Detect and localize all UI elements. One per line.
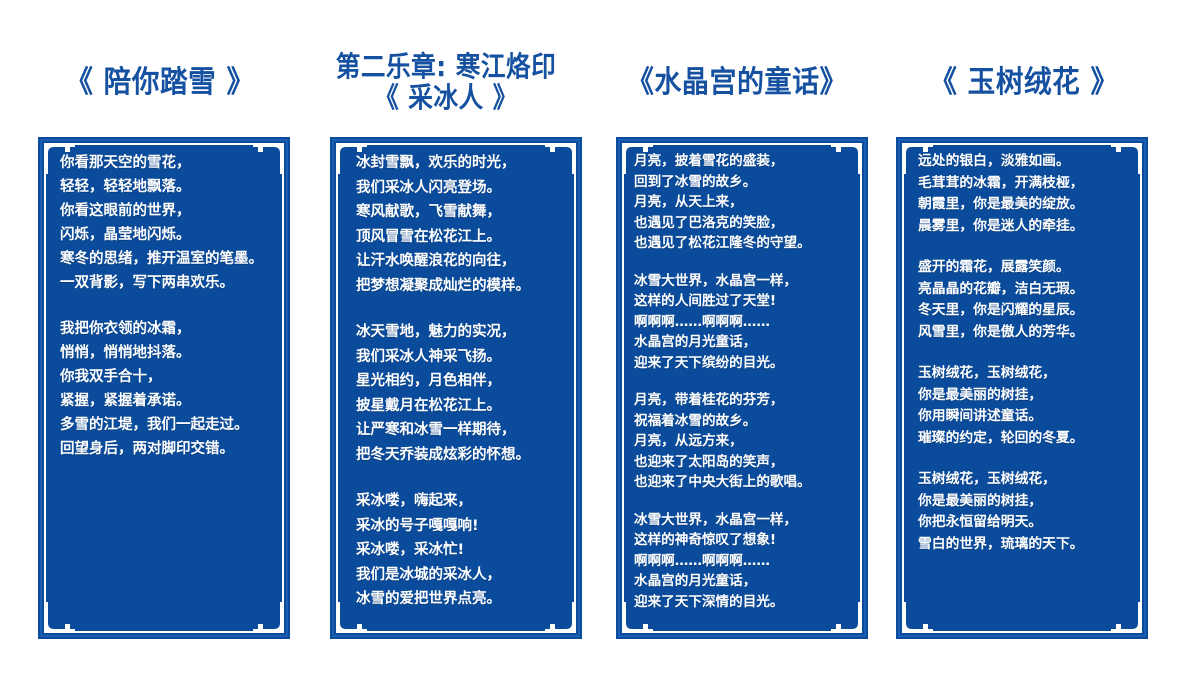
stanza: 玉树绒花，玉树绒花， 你是最美丽的树挂， 你用瞬间讲述童话。 璀璨的约定，轮回的… [918,363,1132,449]
lyric-line: 星光相约，月色相伴， [356,369,566,394]
lyric-line: 寒冬的思绪，推开温室的笔墨。 [60,247,274,271]
stanza: 采冰喽，嗨起来， 采冰的号子嘎嘎响! 采冰喽，采冰忙! 我们是冰城的采冰人， 冰… [356,489,566,612]
lyric-line: 采冰喽，嗨起来， [356,489,566,514]
lyric-line: 雪白的世界，琉璃的天下。 [918,534,1132,556]
lyric-line: 也遇见了松花江隆冬的守望。 [634,233,852,254]
stanza: 冰雪大世界，水晶宫一样， 这样的神奇惊叹了想象! 啊啊啊……啊啊啊…… 水晶宫的… [634,510,852,613]
lyric-line: 顶风冒雪在松花江上。 [356,225,566,250]
lyric-line: 让严寒和冰雪一样期待， [356,418,566,443]
titles-row: 《 陪你踏雪 》 第二乐章: 寒江烙印 《 采冰人 》 《水晶宫的童话》 《 玉… [0,0,1182,126]
lyric-line: 你用瞬间讲述童话。 [918,406,1132,428]
lyric-line: 紧握，紧握着承诺。 [60,389,274,413]
song-title-1-main: 《 陪你踏雪 》 [65,65,254,100]
lyric-line: 一双背影，写下两串欢乐。 [60,271,274,295]
song-title-1: 《 陪你踏雪 》 [31,66,289,100]
lyric-line: 玉树绒花，玉树绒花， [918,469,1132,491]
stanza: 冰封雪飘，欢乐的时光， 我们采冰人闪亮登场。 寒风献歌，飞雪献舞， 顶风冒雪在松… [356,151,566,298]
stanza: 冰雪大世界，水晶宫一样， 这样的人间胜过了天堂! 啊啊啊……啊啊啊…… 水晶宫的… [634,271,852,374]
lyric-line: 采冰的号子嘎嘎响! [356,514,566,539]
stanza: 盛开的霜花，展露笑颜。 亮晶晶的花瓣，洁白无瑕。 冬天里，你是闪耀的星辰。 风雪… [918,257,1132,343]
stanza: 你看那天空的雪花， 轻轻，轻轻地飘落。 你看这眼前的世界， 闪烁，晶莹地闪烁。 … [60,151,274,295]
lyric-line: 冰天雪地，魅力的实况， [356,320,566,345]
lyric-line: 啊啊啊……啊啊啊…… [634,312,852,333]
lyrics-body-4: 远处的银白，淡雅如画。 毛茸茸的冰霜，开满枝桠， 朝霞里，你是最美的绽放。 晨雾… [918,151,1132,629]
lyric-line: 月亮，披着雪花的盛装， [634,151,852,172]
lyric-line: 这样的人间胜过了天堂! [634,291,852,312]
lyric-line: 你看那天空的雪花， [60,151,274,175]
lyric-line: 披星戴月在松花江上。 [356,394,566,419]
lyric-line: 也遇见了巴洛克的笑脸， [634,213,852,234]
song-title-3-main: 《水晶宫的童话》 [627,65,847,100]
lyric-line: 玉树绒花，玉树绒花， [918,363,1132,385]
song-title-4: 《 玉树绒花 》 [895,66,1153,100]
lyric-line: 晨雾里，你是迷人的牵挂。 [918,216,1132,238]
lyric-line: 朝霞里，你是最美的绽放。 [918,194,1132,216]
lyric-line: 冰雪大世界，水晶宫一样， [634,271,852,292]
lyric-line: 你看这眼前的世界， [60,199,274,223]
lyric-line: 把梦想凝聚成灿烂的模样。 [356,274,566,299]
lyric-line: 你是最美丽的树挂， [918,491,1132,513]
song-title-2: 第二乐章: 寒江烙印 《 采冰人 》 [314,51,578,114]
lyric-line: 冰雪大世界，水晶宫一样， [634,510,852,531]
lyric-line: 水晶宫的月光童话， [634,571,852,592]
lyric-line: 也迎来了太阳岛的笑声， [634,452,852,473]
lyric-line: 我们采冰人神采飞扬。 [356,345,566,370]
lyric-line: 啊啊啊……啊啊啊…… [634,551,852,572]
lyric-line: 你我双手合十， [60,365,274,389]
lyric-line: 迎来了天下缤纷的目光。 [634,353,852,374]
lyric-line: 风雪里，你是傲人的芳华。 [918,322,1132,344]
lyric-line: 我们是冰城的采冰人， [356,563,566,588]
lyric-card-1: 你看那天空的雪花， 轻轻，轻轻地飘落。 你看这眼前的世界， 闪烁，晶莹地闪烁。 … [38,137,290,639]
stanza: 月亮，披着雪花的盛装， 回到了冰雪的故乡。 月亮，从天上来， 也遇见了巴洛克的笑… [634,151,852,254]
lyric-line: 让汗水唤醒浪花的向往， [356,249,566,274]
lyric-line: 毛茸茸的冰霜，开满枝桠， [918,173,1132,195]
lyric-line: 璀璨的约定，轮回的冬夏。 [918,428,1132,450]
lyric-line: 回望身后，两对脚印交错。 [60,437,274,461]
lyric-card-2: 冰封雪飘，欢乐的时光， 我们采冰人闪亮登场。 寒风献歌，飞雪献舞， 顶风冒雪在松… [330,137,582,639]
stanza: 月亮，带着桂花的芬芳， 祝福着冰雪的故乡。 月亮，从远方来， 也迎来了太阳岛的笑… [634,390,852,493]
lyric-line: 也迎来了中央大街上的歌唱。 [634,472,852,493]
stanza: 远处的银白，淡雅如画。 毛茸茸的冰霜，开满枝桠， 朝霞里，你是最美的绽放。 晨雾… [918,151,1132,237]
lyric-line: 多雪的江堤，我们一起走过。 [60,413,274,437]
lyric-line: 远处的银白，淡雅如画。 [918,151,1132,173]
lyric-line: 把冬天乔装成炫彩的怀想。 [356,443,566,468]
lyric-line: 轻轻，轻轻地飘落。 [60,175,274,199]
lyric-line: 冰封雪飘，欢乐的时光， [356,151,566,176]
lyric-line: 闪烁，晶莹地闪烁。 [60,223,274,247]
lyrics-body-3: 月亮，披着雪花的盛装， 回到了冰雪的故乡。 月亮，从天上来， 也遇见了巴洛克的笑… [634,151,852,629]
stanza: 冰天雪地，魅力的实况， 我们采冰人神采飞扬。 星光相约，月色相伴， 披星戴月在松… [356,320,566,467]
lyric-line: 冰雪的爱把世界点亮。 [356,587,566,612]
lyric-line: 祝福着冰雪的故乡。 [634,411,852,432]
lyric-line: 寒风献歌，飞雪献舞， [356,200,566,225]
lyric-line: 我把你衣领的冰霜， [60,317,274,341]
lyric-line: 冬天里，你是闪耀的星辰。 [918,300,1132,322]
lyric-card-4: 远处的银白，淡雅如画。 毛茸茸的冰霜，开满枝桠， 朝霞里，你是最美的绽放。 晨雾… [896,137,1148,639]
lyric-line: 回到了冰雪的故乡。 [634,172,852,193]
lyric-line: 采冰喽，采冰忙! [356,538,566,563]
lyric-line: 盛开的霜花，展露笑颜。 [918,257,1132,279]
lyrics-body-2: 冰封雪飘，欢乐的时光， 我们采冰人闪亮登场。 寒风献歌，飞雪献舞， 顶风冒雪在松… [356,151,566,629]
lyric-line: 我们采冰人闪亮登场。 [356,176,566,201]
lyric-line: 月亮，从远方来， [634,431,852,452]
stanza: 玉树绒花，玉树绒花， 你是最美丽的树挂， 你把永恒留给明天。 雪白的世界，琉璃的… [918,469,1132,555]
song-title-3: 《水晶宫的童话》 [607,66,868,100]
lyric-line: 你是最美丽的树挂， [918,385,1132,407]
song-title-2-main: 第二乐章: 寒江烙印 [336,50,556,83]
lyric-line: 悄悄，悄悄地抖落。 [60,341,274,365]
lyric-line: 月亮，带着桂花的芬芳， [634,390,852,411]
lyric-line: 这样的神奇惊叹了想象! [634,530,852,551]
lyric-card-3: 月亮，披着雪花的盛装， 回到了冰雪的故乡。 月亮，从天上来， 也遇见了巴洛克的笑… [616,137,868,639]
song-title-2-sub: 《 采冰人 》 [314,82,578,113]
stanza: 我把你衣领的冰霜， 悄悄，悄悄地抖落。 你我双手合十， 紧握，紧握着承诺。 多雪… [60,317,274,461]
lyric-poster: 《 陪你踏雪 》 第二乐章: 寒江烙印 《 采冰人 》 《水晶宫的童话》 《 玉… [0,0,1182,683]
lyric-line: 你把永恒留给明天。 [918,512,1132,534]
song-title-4-main: 《 玉树绒花 》 [929,65,1118,100]
lyric-line: 水晶宫的月光童话， [634,332,852,353]
lyrics-body-1: 你看那天空的雪花， 轻轻，轻轻地飘落。 你看这眼前的世界， 闪烁，晶莹地闪烁。 … [60,151,274,629]
lyric-line: 亮晶晶的花瓣，洁白无瑕。 [918,279,1132,301]
lyric-line: 月亮，从天上来， [634,192,852,213]
lyric-line: 迎来了天下深情的目光。 [634,592,852,613]
